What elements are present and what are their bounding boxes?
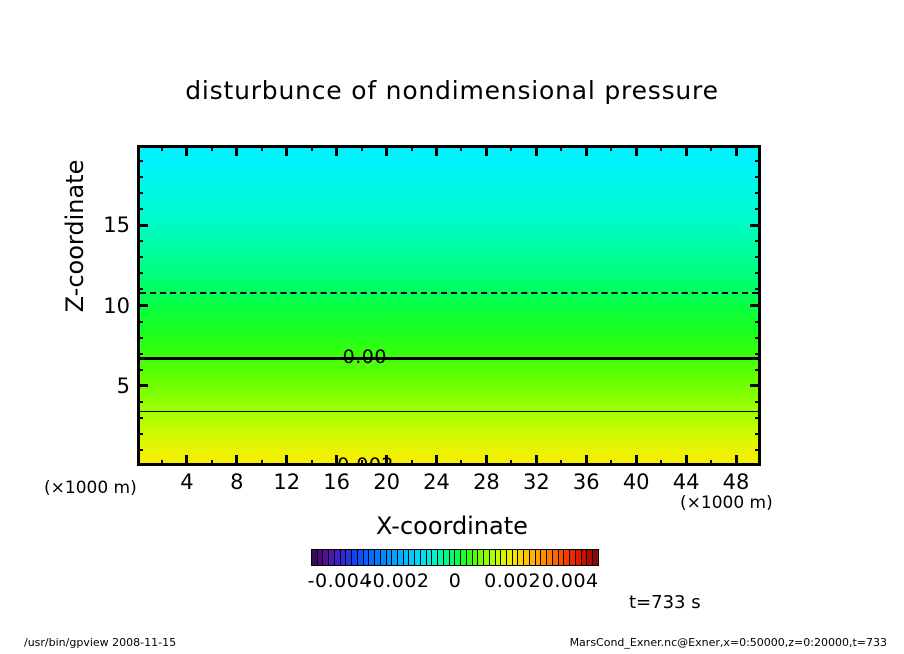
- x-tick-bottom: [161, 460, 163, 466]
- x-tick-top: [411, 145, 413, 151]
- z-tick-left: [137, 256, 143, 258]
- x-tick-label: 36: [573, 470, 600, 494]
- x-tick-bottom: [361, 460, 363, 466]
- x-tick-top: [610, 145, 612, 151]
- x-tick-top: [435, 145, 438, 156]
- x-tick-top: [311, 145, 313, 151]
- z-tick-left: [137, 449, 143, 451]
- z-tick-left: [137, 433, 143, 435]
- z-tick-right: [755, 353, 761, 355]
- contour-line: [140, 357, 758, 360]
- contour-plot-area: 0.000.002: [137, 145, 761, 466]
- time-annotation: t=733 s: [629, 592, 701, 613]
- x-tick-bottom: [735, 455, 738, 466]
- x-tick-label: 4: [180, 470, 193, 494]
- colorbar-tick-label: 0: [449, 570, 462, 592]
- x-tick-bottom: [261, 460, 263, 466]
- x-axis-title: X-coordinate: [0, 512, 904, 540]
- z-tick-right: [755, 369, 761, 371]
- x-tick-bottom: [485, 455, 488, 466]
- x-tick-top: [361, 145, 363, 151]
- x-tick-top: [335, 145, 338, 156]
- x-tick-label: 16: [323, 470, 350, 494]
- x-tick-label: 8: [230, 470, 243, 494]
- x-tick-top: [510, 145, 512, 151]
- x-tick-top: [385, 145, 388, 156]
- x-tick-bottom: [385, 455, 388, 466]
- colorbar: [311, 549, 599, 566]
- x-tick-label: 32: [523, 470, 550, 494]
- footer-command-label: /usr/bin/gpview 2008-11-15: [24, 636, 176, 649]
- x-tick-top: [161, 145, 163, 151]
- colorbar-tick-label: 0.004: [542, 570, 599, 592]
- z-tick-left: [137, 353, 143, 355]
- x-tick-top: [185, 145, 188, 156]
- x-tick-bottom: [411, 460, 413, 466]
- x-tick-label: 24: [423, 470, 450, 494]
- x-tick-bottom: [710, 460, 712, 466]
- x-tick-label: 40: [623, 470, 650, 494]
- z-tick-left: [137, 224, 148, 227]
- z-tick-right: [755, 321, 761, 323]
- x-tick-top: [685, 145, 688, 156]
- x-tick-bottom: [610, 460, 612, 466]
- z-tick-right: [755, 240, 761, 242]
- x-tick-top: [235, 145, 238, 156]
- x-tick-label: 20: [373, 470, 400, 494]
- x-tick-label: 12: [273, 470, 300, 494]
- contour-line: [140, 292, 758, 294]
- z-tick-left: [137, 160, 143, 162]
- x-tick-bottom: [435, 455, 438, 466]
- colorbar-tick-label: -0.002: [365, 570, 429, 592]
- z-tick-left: [137, 401, 143, 403]
- contour-label: 0.00: [343, 346, 387, 368]
- z-tick-left: [137, 321, 143, 323]
- z-tick-right: [750, 224, 761, 227]
- x-tick-top: [735, 145, 738, 156]
- z-tick-right: [755, 160, 761, 162]
- footer-datasource-label: MarsCond_Exner.nc@Exner,x=0:50000,z=0:20…: [570, 636, 887, 649]
- z-tick-right: [755, 433, 761, 435]
- z-tick-right: [750, 384, 761, 387]
- x-tick-label: 44: [673, 470, 700, 494]
- z-tick-right: [755, 337, 761, 339]
- x-tick-label: 28: [473, 470, 500, 494]
- z-tick-left: [137, 369, 143, 371]
- x-tick-top: [560, 145, 562, 151]
- x-tick-top: [460, 145, 462, 151]
- z-tick-right: [755, 192, 761, 194]
- x-tick-top: [635, 145, 638, 156]
- contour-line: [140, 465, 758, 466]
- page-title: disturbunce of nondimensional pressure: [0, 76, 904, 105]
- z-tick-left: [137, 384, 148, 387]
- colorbar-cell: [593, 550, 598, 565]
- z-tick-left: [137, 288, 143, 290]
- colorbar-tick-label: 0.002: [484, 570, 541, 592]
- x-tick-bottom: [535, 455, 538, 466]
- x-tick-bottom: [510, 460, 512, 466]
- x-tick-top: [585, 145, 588, 156]
- z-tick-right: [755, 256, 761, 258]
- x-tick-bottom: [585, 455, 588, 466]
- x-tick-top: [211, 145, 213, 151]
- z-tick-left: [137, 304, 148, 307]
- x-tick-top: [660, 145, 662, 151]
- x-tick-top: [485, 145, 488, 156]
- z-tick-right: [755, 449, 761, 451]
- z-tick-label: 5: [96, 374, 130, 398]
- z-tick-left: [137, 417, 143, 419]
- x-tick-bottom: [460, 460, 462, 466]
- x-tick-top: [261, 145, 263, 151]
- x-tick-top: [710, 145, 712, 151]
- z-tick-left: [137, 208, 143, 210]
- x-axis-unit-label: (×1000 m): [680, 493, 773, 513]
- colorbar-tick-label: -0.004: [308, 570, 372, 592]
- z-tick-left: [137, 192, 143, 194]
- z-tick-left: [137, 240, 143, 242]
- x-tick-bottom: [185, 455, 188, 466]
- x-tick-bottom: [685, 455, 688, 466]
- z-tick-label: 10: [96, 294, 130, 318]
- z-axis-unit-label: (×1000 m): [44, 478, 137, 498]
- x-tick-bottom: [660, 460, 662, 466]
- contour-line: [140, 411, 758, 412]
- x-tick-bottom: [211, 460, 213, 466]
- z-tick-right: [755, 417, 761, 419]
- x-tick-top: [535, 145, 538, 156]
- z-tick-left: [137, 337, 143, 339]
- x-tick-bottom: [311, 460, 313, 466]
- z-tick-right: [755, 288, 761, 290]
- y-axis-title: Z-coordinate: [61, 121, 89, 351]
- z-tick-right: [755, 208, 761, 210]
- x-tick-bottom: [235, 455, 238, 466]
- z-tick-right: [755, 272, 761, 274]
- x-tick-bottom: [335, 455, 338, 466]
- z-tick-left: [137, 176, 143, 178]
- x-tick-bottom: [560, 460, 562, 466]
- colorbar-gradient: [311, 549, 599, 566]
- z-tick-right: [755, 176, 761, 178]
- x-tick-bottom: [285, 455, 288, 466]
- x-tick-top: [285, 145, 288, 156]
- z-tick-label: 15: [96, 213, 130, 237]
- z-tick-right: [755, 401, 761, 403]
- z-tick-left: [137, 272, 143, 274]
- x-tick-label: 48: [723, 470, 750, 494]
- x-tick-bottom: [635, 455, 638, 466]
- pressure-field-fill: [140, 148, 758, 463]
- z-tick-right: [750, 304, 761, 307]
